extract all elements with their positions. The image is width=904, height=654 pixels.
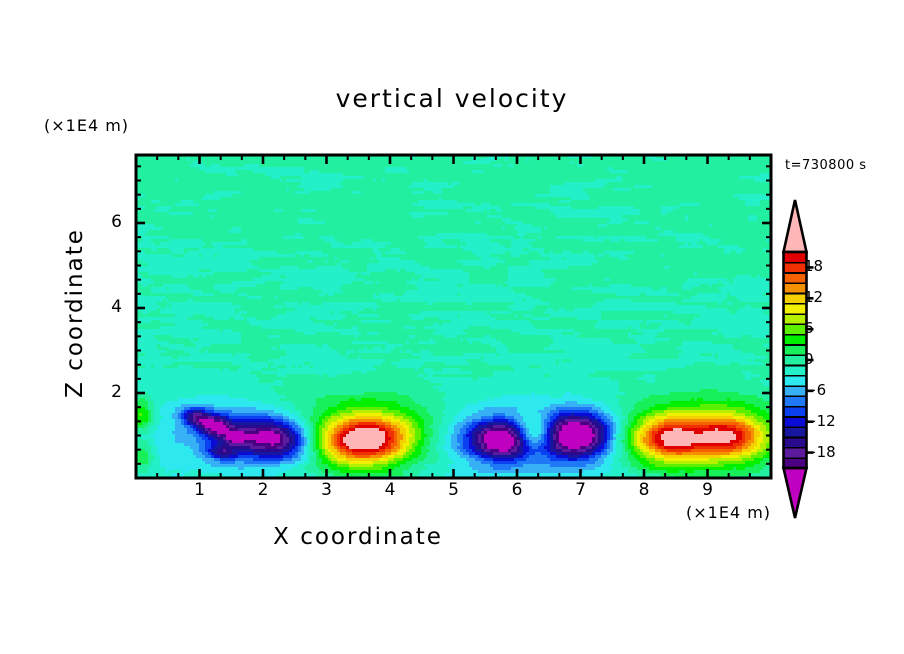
y-tick-label-6: 6 [96,212,122,232]
colorbar-tick-label--6: −6 [804,381,826,399]
x-tick-label-2: 2 [248,480,278,500]
colorbar-tick-label-6: 6 [804,319,814,337]
contour-field [136,155,773,480]
colorbar-tick-label-12: 12 [804,288,823,306]
y-tick-label-2: 2 [96,382,122,402]
x-tick-label-1: 1 [185,480,215,500]
colorbar-tick-label--18: −18 [804,443,836,461]
x-tick-label-7: 7 [566,480,596,500]
y-tick-label-4: 4 [96,297,122,317]
colorbar-tick-label-18: 18 [804,257,823,275]
x-tick-label-5: 5 [439,480,469,500]
colorbar-tick-label-0: 0 [804,350,814,368]
colorbar-tick-label--12: −12 [804,412,836,430]
x-tick-label-9: 9 [693,480,723,500]
x-tick-label-6: 6 [502,480,532,500]
contour-plot [0,0,904,654]
x-tick-label-4: 4 [375,480,405,500]
x-tick-label-8: 8 [629,480,659,500]
x-tick-label-3: 3 [312,480,342,500]
